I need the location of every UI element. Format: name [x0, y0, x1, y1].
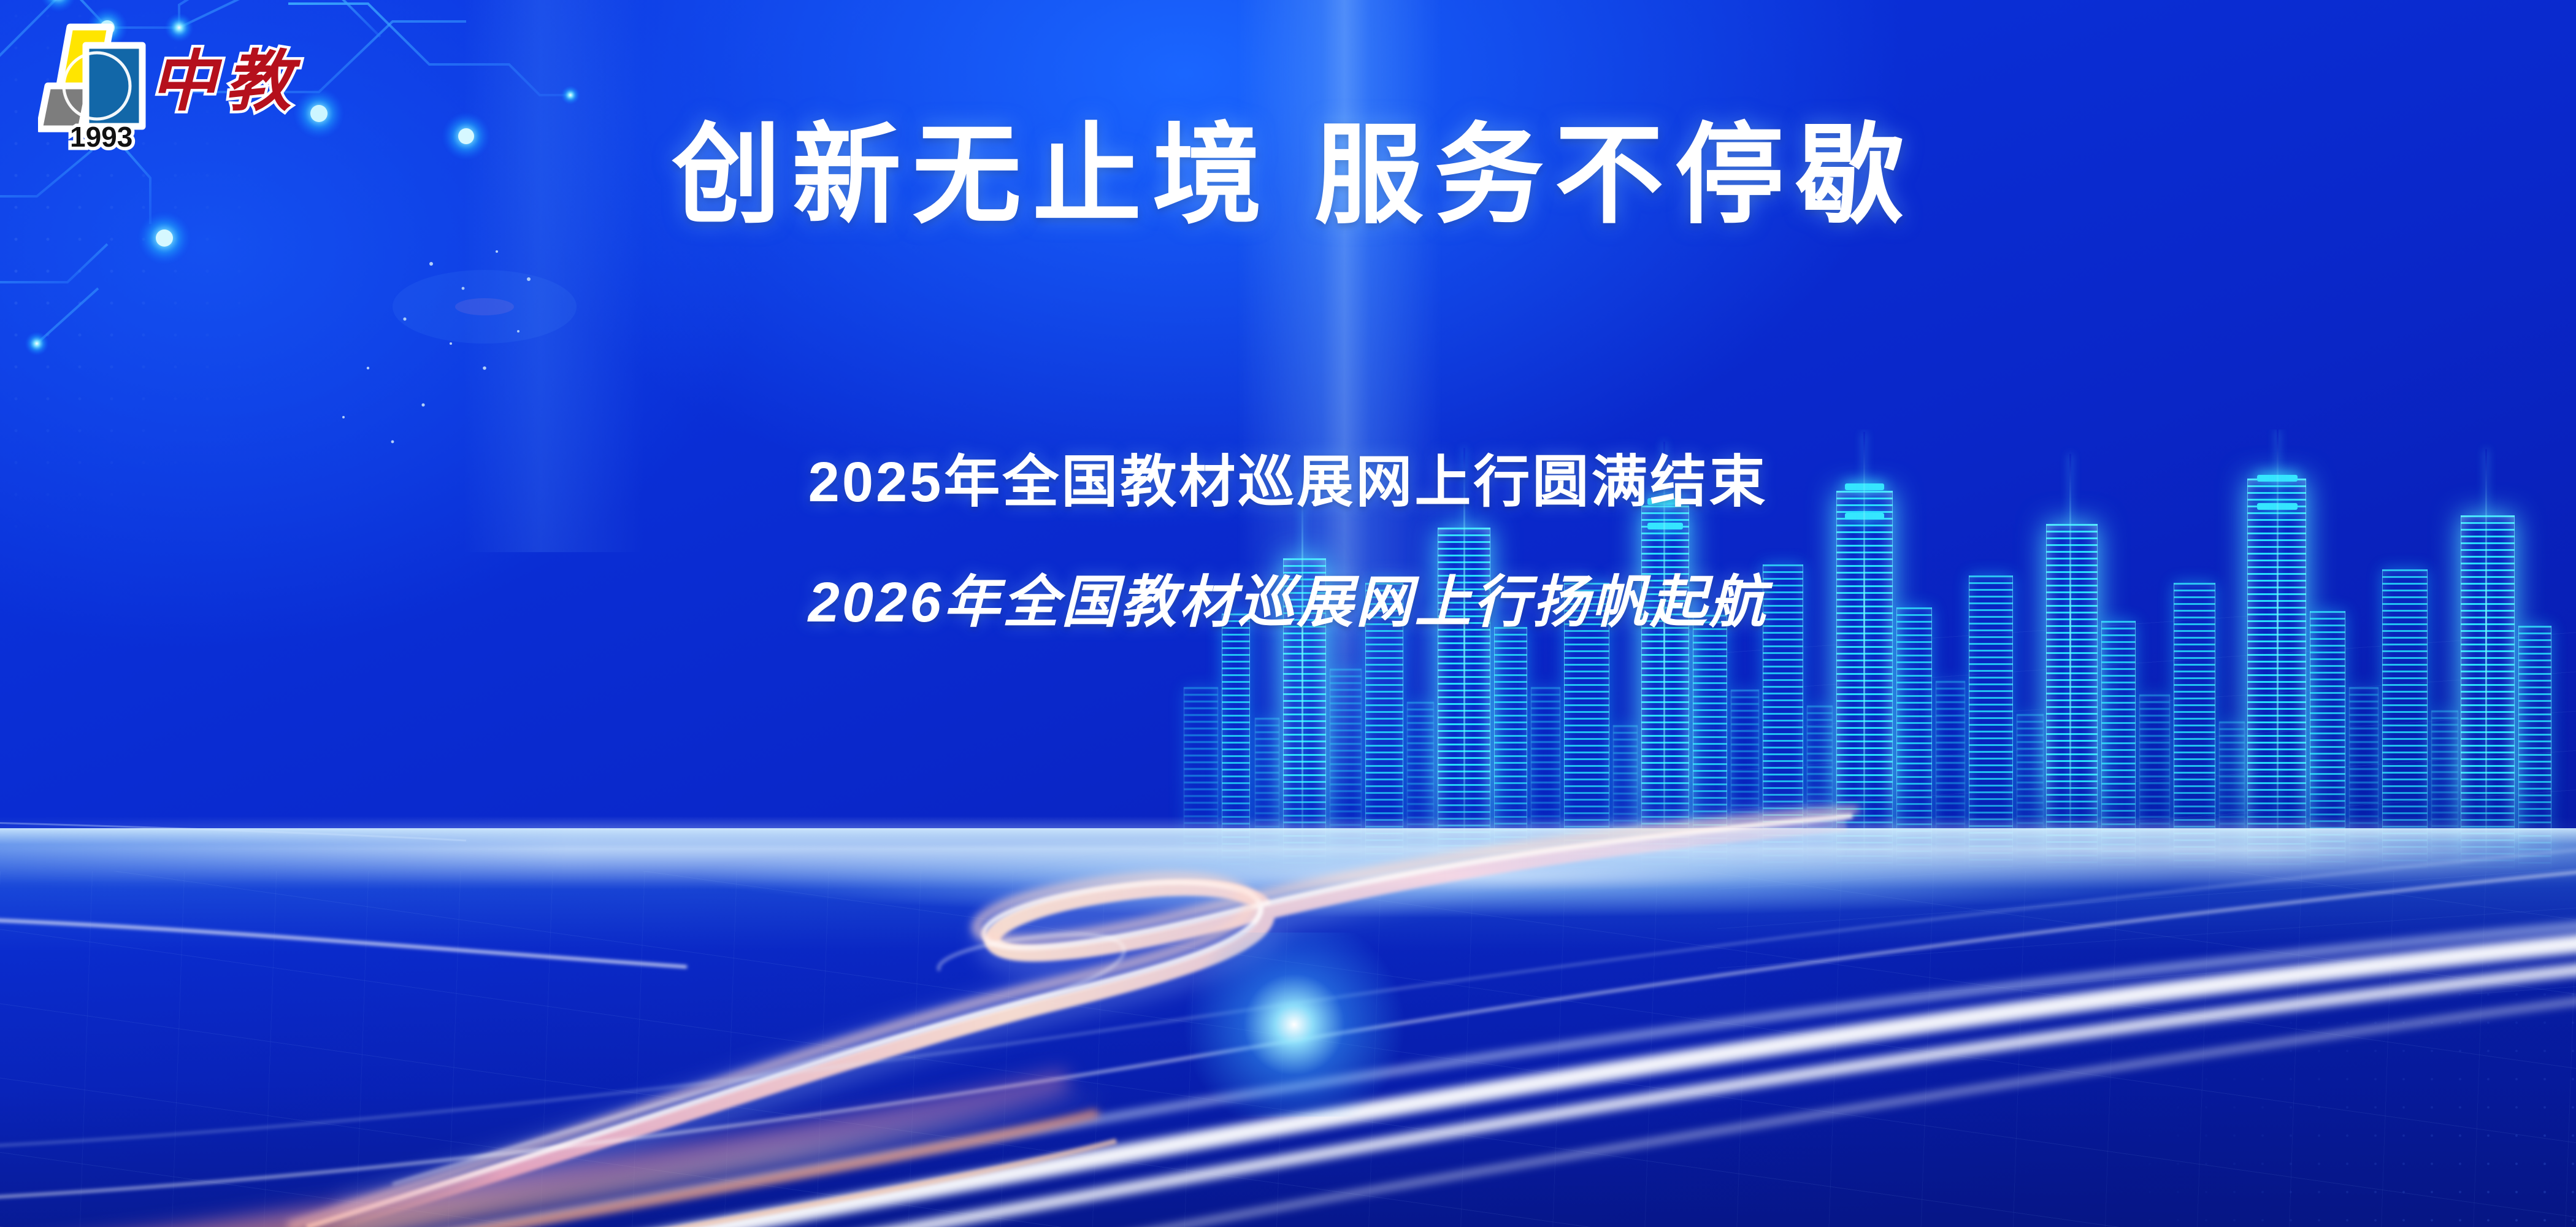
light-burst	[1165, 933, 1423, 1117]
subtitle-line-1: 2025年全国教材巡展网上行圆满结束	[0, 454, 2576, 510]
poster-canvas: 1993 中教	[0, 0, 2576, 1227]
perspective-grid-right	[1717, 613, 2576, 994]
subtitle-line-2: 2026年全国教材巡展网上行扬帆起航	[0, 574, 2576, 631]
horizon-glow-band	[0, 798, 2576, 933]
halftone-dots-right	[1656, 613, 2576, 1227]
subtitle-group: 2025年全国教材巡展网上行圆满结束 2026年全国教材巡展网上行扬帆起航	[0, 454, 2576, 631]
page-title: 创新无止境 服务不停歇	[0, 114, 2576, 236]
horizon-highlight	[0, 816, 2576, 890]
brand-name-cn: 中教	[150, 28, 300, 124]
